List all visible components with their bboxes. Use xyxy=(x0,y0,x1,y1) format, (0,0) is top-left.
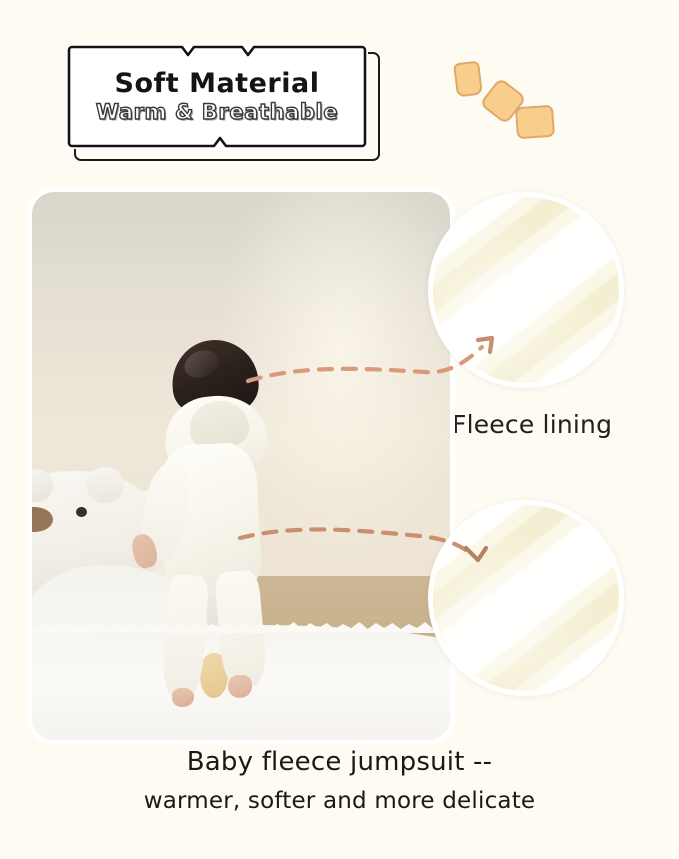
badge-title: Soft Material xyxy=(115,69,320,99)
fleece-texture-bottom-sheen xyxy=(433,505,619,691)
teddy-bear-ear-right xyxy=(86,467,124,503)
caption-line-2: warmer, softer and more delicate xyxy=(0,786,679,817)
photo-rug-fringe xyxy=(32,621,450,633)
baby-figure xyxy=(137,340,313,713)
caption-block: Baby fleece jumpsuit -- warmer, softer a… xyxy=(0,745,679,817)
badge-subtitle: Warm & Breathable xyxy=(96,100,338,124)
header-badge: Soft Material Warm & Breathable xyxy=(66,44,376,157)
baby-foot-left xyxy=(172,688,195,707)
fleece-lining-label: Fleece lining xyxy=(452,410,612,439)
teddy-bear-eye xyxy=(76,507,87,517)
caption-line-1: Baby fleece jumpsuit -- xyxy=(0,745,679,779)
infographic-stage: Soft Material Warm & Breathable xyxy=(0,0,679,859)
orange-square-1-icon xyxy=(453,61,483,98)
badge-text-block: Soft Material Warm & Breathable xyxy=(66,44,368,149)
product-photo xyxy=(32,192,450,740)
fleece-detail-circle-bottom xyxy=(428,500,624,696)
baby-foot-right xyxy=(228,675,253,697)
orange-square-3-icon xyxy=(515,105,555,140)
fleece-detail-circle-top xyxy=(428,192,624,388)
fleece-texture-top-sheen xyxy=(433,197,619,383)
